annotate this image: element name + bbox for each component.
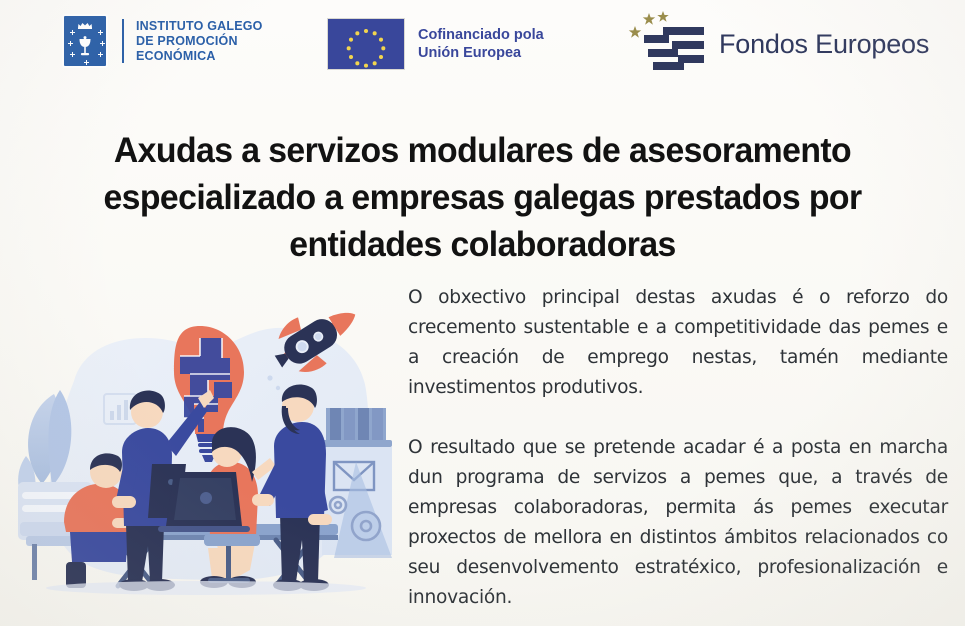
logo-igape-line3: ECONÓMICA: [136, 49, 263, 64]
logo-igape-label: INSTITUTO GALEGO DE PROMOCIÓN ECONÓMICA: [136, 19, 263, 64]
paragraph-objective: O obxectivo principal destas axudas é o …: [408, 283, 948, 403]
body-text-column: O obxectivo principal destas axudas é o …: [408, 283, 948, 613]
eu-stars: [328, 19, 404, 69]
logo-european-union: Cofinanciado pola Unión Europea: [327, 18, 544, 70]
paragraph-result: O resultado que se pretende acadar é a p…: [408, 433, 948, 613]
crown-icon: [77, 22, 93, 29]
chalice-icon: [77, 36, 94, 58]
xunta-galicia-coat-of-arms-icon: [62, 14, 108, 68]
logo-igape-line2: DE PROMOCIÓN: [136, 34, 263, 49]
logo-eu-line2: Unión Europea: [418, 44, 544, 62]
logo-fondos-europeos: Fondos Europeos: [620, 10, 929, 72]
poster-page: INSTITUTO GALEGO DE PROMOCIÓN ECONÓMICA: [0, 0, 965, 626]
logo-fondos-label: Fondos Europeos: [719, 23, 929, 60]
logo-igape-line1: INSTITUTO GALEGO: [136, 19, 263, 34]
page-title: Axudas a servizos modulares de asesorame…: [50, 127, 916, 268]
logo-eu-line1: Cofinanciado pola: [418, 26, 544, 44]
logo-eu-label: Cofinanciado pola Unión Europea: [418, 26, 544, 62]
logo-igape: INSTITUTO GALEGO DE PROMOCIÓN ECONÓMICA: [62, 14, 263, 68]
logo-bar: INSTITUTO GALEGO DE PROMOCIÓN ECONÓMICA: [0, 0, 965, 86]
eu-flag-icon: [327, 18, 405, 70]
team-collaboration-illustration: [8, 286, 403, 604]
fondos-europeos-steps-icon: [620, 10, 708, 72]
floor-shadow: [46, 581, 366, 595]
logo-divider: [122, 19, 124, 63]
